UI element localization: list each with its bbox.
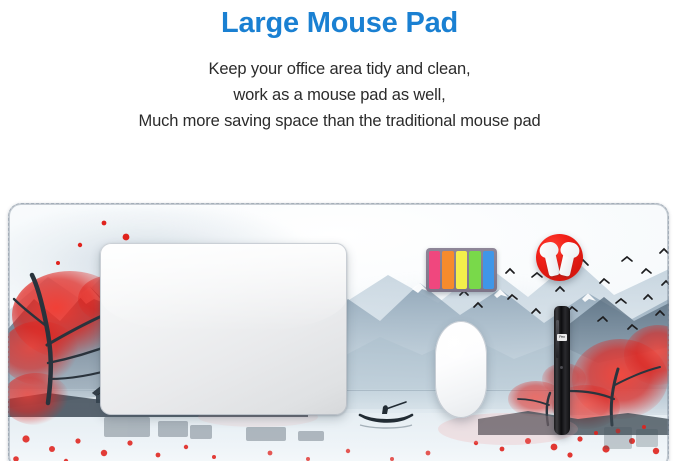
earbuds-case[interactable]: [536, 234, 583, 281]
earbud-left: [543, 245, 560, 277]
subtitle-line-3: Much more saving space than the traditio…: [0, 108, 679, 134]
earbud-right-head: [559, 240, 581, 259]
page-subtitle: Keep your office area tidy and clean, wo…: [0, 56, 679, 134]
sticky-tab-orange: [442, 251, 453, 289]
desk-mat: Pen: [8, 203, 669, 461]
earbud-right: [559, 245, 576, 277]
subtitle-line-1: Keep your office area tidy and clean,: [0, 56, 679, 82]
pen-button: [560, 366, 563, 369]
earbud-left-head: [538, 240, 560, 259]
boat-shape: [360, 402, 412, 428]
subtitle-line-2: work as a mouse pad as well,: [0, 82, 679, 108]
pen-brand-label: Pen: [557, 334, 567, 341]
computer-mouse[interactable]: [435, 321, 487, 418]
mouse-gloss: [439, 325, 470, 364]
sticky-tab-blue: [483, 251, 494, 289]
pen[interactable]: Pen: [554, 306, 570, 435]
laptop-sheen: [100, 243, 347, 332]
sticky-tab-pink: [429, 251, 440, 289]
sticky-note-tabs[interactable]: [426, 248, 497, 292]
sticky-tab-green: [469, 251, 480, 289]
sticky-tab-yellow: [456, 251, 467, 289]
laptop[interactable]: [100, 243, 347, 415]
product-banner: Large Mouse Pad Keep your office area ti…: [0, 0, 679, 461]
page-title: Large Mouse Pad: [0, 6, 679, 40]
